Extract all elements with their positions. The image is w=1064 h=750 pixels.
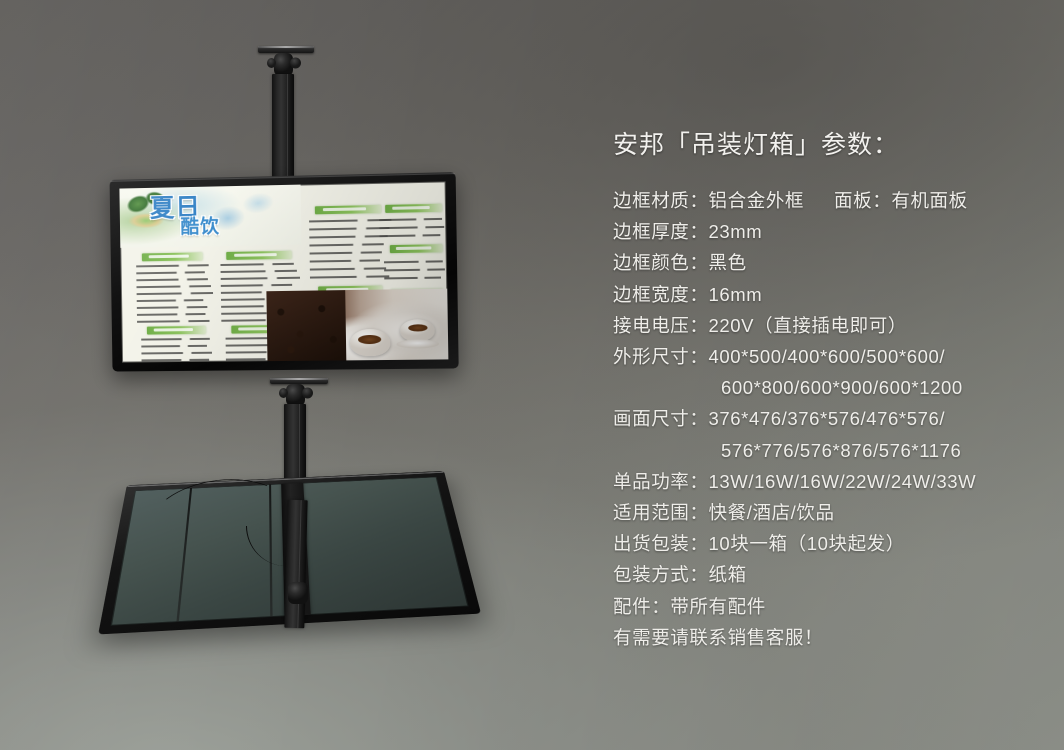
menu-section-header [390, 244, 443, 253]
menu-section-header [385, 204, 442, 213]
spec-line-outer-size-continued: 600*800/600*900/600*1200 [613, 372, 1053, 403]
spec-line-frame-width: 边框宽度：16mm [613, 279, 1053, 310]
menu-item-row [136, 271, 205, 274]
spec-value: 10块一箱（10块起发） [709, 533, 905, 554]
pole-seam-rear [297, 500, 301, 628]
front-lightbox: 夏日 酷饮 [110, 172, 459, 371]
spec-line-application: 适用范围：快餐/酒店/饮品 [613, 497, 1053, 528]
spec-value: 带所有配件 [670, 596, 766, 617]
coffee-cup-back [400, 319, 435, 342]
spec-value: 13W/16W/16W/22W/24W/33W [709, 471, 977, 492]
spec-value: 220V（直接插电即可） [709, 315, 907, 336]
spec-label-secondary: 面板： [834, 190, 891, 211]
coffee-cup-front [349, 329, 390, 357]
spec-label: 单品功率： [613, 471, 709, 492]
menu-item-row [384, 268, 445, 271]
swivel-wing-left-lower [279, 388, 288, 398]
menu-item-row [384, 260, 443, 263]
menu-item-row [137, 320, 210, 323]
swivel-wing-right-lower [302, 388, 313, 399]
ceiling-mount-upper [252, 46, 348, 182]
product-photo-canvas: 夏日 酷饮 [0, 0, 1064, 750]
menu-item-row [221, 284, 292, 287]
spec-line-shipping-package: 出货包装：10块一箱（10块起发） [613, 528, 1053, 559]
spec-label: 边框厚度： [613, 221, 709, 242]
menu-item-row [310, 275, 389, 279]
spec-line-power: 单品功率：13W/16W/16W/22W/24W/33W [613, 466, 1053, 497]
mount-pole-upper [272, 74, 294, 182]
menu-section-header [147, 326, 206, 335]
menu-item-row [379, 218, 442, 222]
spec-value-secondary: 有机面板 [891, 190, 967, 211]
swivel-joint-bottom [288, 582, 308, 604]
mount-plate-highlight-lower [270, 378, 328, 380]
menu-item-row [310, 267, 386, 271]
spec-line-package-type: 包装方式：纸箱 [613, 559, 1053, 590]
ceiling-plate-upper [258, 46, 314, 53]
spec-line-frame-color: 边框颜色：黑色 [613, 247, 1053, 278]
menu-item-row [136, 285, 210, 288]
menu-item-row [137, 299, 204, 302]
spec-line-picture-size-continued: 576*776/576*876/576*1176 [613, 435, 1053, 466]
spec-value: 600*800/600*900/600*1200 [721, 377, 963, 398]
pole-seam-upper [287, 74, 288, 182]
spec-value: 376*476/376*576/476*576/ [709, 408, 946, 429]
spec-value: 400*500/400*600/500*600/ [709, 346, 946, 367]
spec-value: 23mm [709, 221, 763, 242]
menu-item-row [309, 227, 389, 231]
menu-item-row [384, 277, 441, 280]
menu-item-row [379, 226, 444, 230]
spec-line-outer-size: 外形尺寸：400*500/400*600/500*600/ [613, 341, 1053, 372]
coffee-photo [266, 288, 448, 361]
menu-item-row [141, 345, 207, 348]
spec-line-picture-size: 画面尺寸：376*476/376*576/476*576/ [613, 403, 1053, 434]
swivel-wing-right-upper [290, 58, 301, 69]
menu-item-row [309, 235, 387, 239]
menu-item-row [380, 234, 441, 238]
ceiling-plate-highlight [258, 46, 314, 48]
menu-item-row [141, 352, 212, 355]
menu-item-row [137, 306, 208, 309]
spec-label: 边框宽度： [613, 284, 709, 305]
spec-label: 边框材质： [613, 190, 709, 211]
spec-value: 576*776/576*876/576*1176 [721, 440, 961, 461]
spec-label: 适用范围： [613, 502, 709, 523]
menu-item-row [309, 243, 383, 247]
spec-value: 有需要请联系销售客服！ [613, 627, 823, 648]
menu-item-row [136, 264, 208, 268]
spec-value: 铝合金外框 [709, 190, 805, 211]
menu-item-row [137, 292, 213, 295]
spec-label: 出货包装： [613, 533, 709, 554]
menu-title-sub: 酷饮 [180, 217, 220, 237]
menu-item-row [221, 277, 300, 281]
spec-label: 配件： [613, 596, 670, 617]
lightbox-menu-panel: 夏日 酷饮 [119, 181, 448, 362]
menu-item-row [220, 263, 293, 267]
spec-value: 16mm [709, 284, 763, 305]
spec-line-voltage: 接电电压：220V（直接插电即可） [613, 310, 1053, 341]
menu-section-header [315, 205, 381, 214]
spec-title: 安邦「吊装灯箱」参数： [613, 125, 1053, 161]
coffee-beans [266, 290, 346, 361]
spec-label: 外形尺寸： [613, 346, 709, 367]
spec-value: 黑色 [709, 252, 747, 273]
menu-item-row [310, 251, 382, 255]
coffee-saucer [397, 339, 440, 349]
swivel-wing-left-upper [267, 58, 276, 68]
spec-line-accessories: 配件：带所有配件 [613, 591, 1053, 622]
menu-item-row [137, 313, 206, 316]
menu-section-header [142, 252, 203, 261]
menu-item-row [221, 270, 297, 274]
spec-line-frame-thickness: 边框厚度：23mm [613, 216, 1053, 247]
menu-item-row [141, 338, 210, 341]
spec-value: 快餐/酒店/饮品 [709, 502, 835, 523]
spec-line-contact: 有需要请联系销售客服！ [613, 622, 1053, 653]
menu-item-row [136, 278, 208, 281]
menu-section-header [226, 251, 292, 260]
spec-label: 边框颜色： [613, 252, 709, 273]
menu-item-row [142, 359, 210, 362]
menu-item-row [310, 259, 380, 263]
spec-value: 纸箱 [709, 564, 747, 585]
spec-label: 包装方式： [613, 564, 709, 585]
spec-line-frame-material: 边框材质：铝合金外框面板：有机面板 [613, 185, 1053, 216]
spec-label: 画面尺寸： [613, 408, 709, 429]
spec-panel: 安邦「吊装灯箱」参数： 边框材质：铝合金外框面板：有机面板 边框厚度：23mm … [613, 125, 1053, 653]
spec-label: 接电电压： [613, 315, 709, 336]
